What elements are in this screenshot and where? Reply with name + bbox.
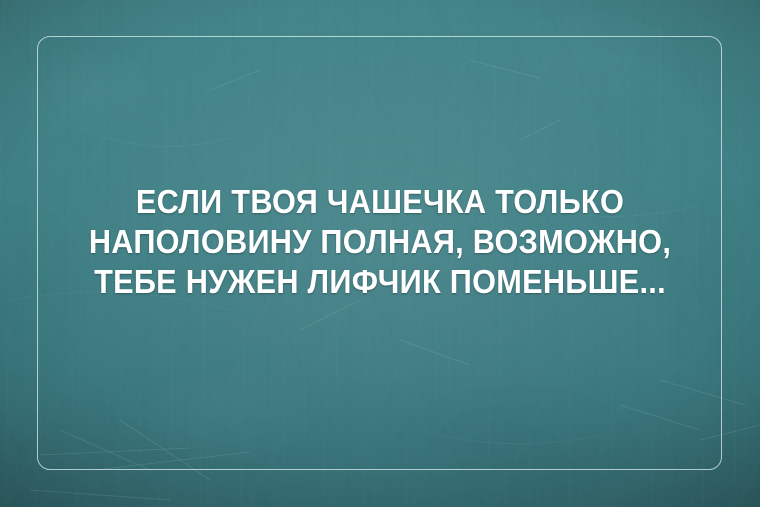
quote-text: ЕСЛИ ТВОЯ ЧАШЕЧКА ТОЛЬКО НАПОЛОВИНУ ПОЛН… <box>0 182 760 302</box>
quote-card: ЕСЛИ ТВОЯ ЧАШЕЧКА ТОЛЬКО НАПОЛОВИНУ ПОЛН… <box>0 0 760 507</box>
quote-line-1: ЕСЛИ ТВОЯ ЧАШЕЧКА ТОЛЬКО <box>27 182 734 222</box>
quote-line-2: НАПОЛОВИНУ ПОЛНАЯ, ВОЗМОЖНО, <box>27 222 734 262</box>
quote-line-3: ТЕБЕ НУЖЕН ЛИФЧИК ПОМЕНЬШЕ... <box>27 262 734 302</box>
